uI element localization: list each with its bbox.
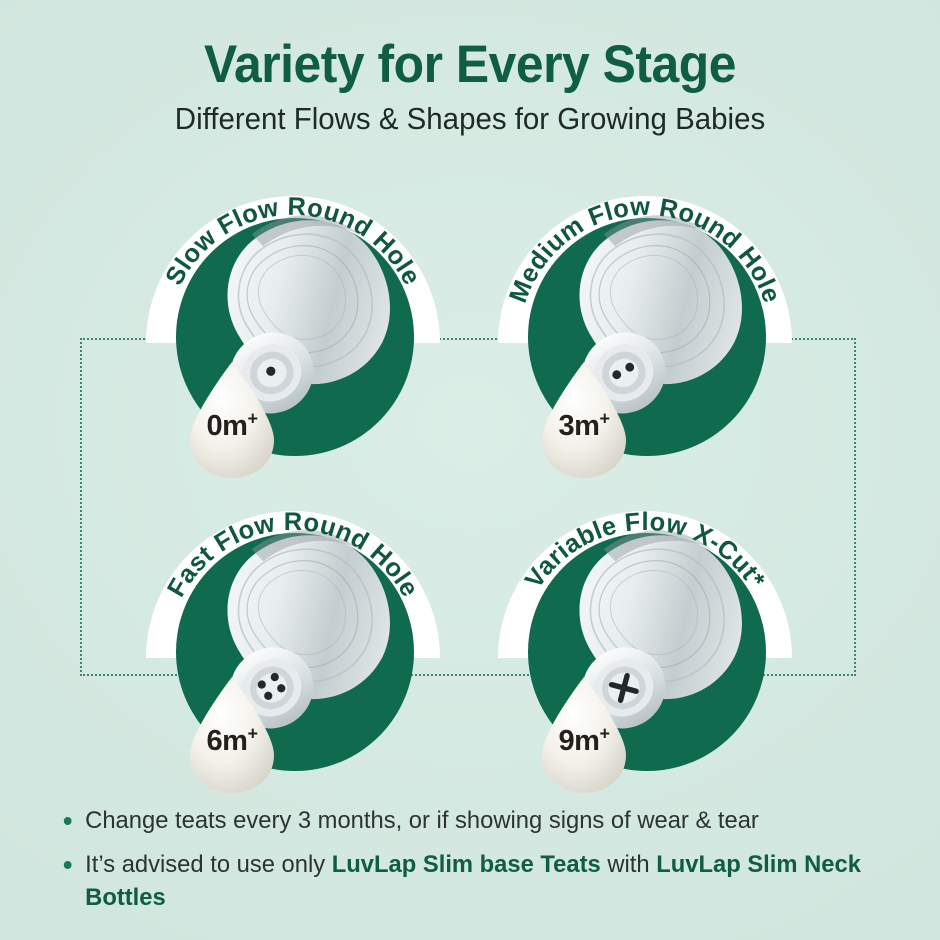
age-droplet-badge: 6m+ xyxy=(180,673,284,797)
header-block: Variety for Every Stage Different Flows … xyxy=(0,36,940,137)
note-item: It’s advised to use only LuvLap Slim bas… xyxy=(58,849,883,914)
teat-card-stage: 3m+ Medium Flow Round Hole xyxy=(470,172,820,482)
teat-card: 6m+ Fast Flow Round Hole xyxy=(118,487,468,797)
page-title: Variety for Every Stage xyxy=(28,36,912,93)
age-droplet-badge: 3m+ xyxy=(532,358,636,482)
teat-card-stage: 6m+ Fast Flow Round Hole xyxy=(118,487,468,797)
brand-text: LuvLap Slim base Teats xyxy=(332,851,601,878)
bullet-dot-icon xyxy=(64,861,72,869)
plain-text: with xyxy=(601,851,656,878)
age-label: 0m+ xyxy=(180,410,284,443)
teat-card: 0m+ Slow Flow Round Hole xyxy=(118,172,468,482)
bullet-dot-icon xyxy=(64,817,72,825)
age-label: 6m+ xyxy=(180,725,284,758)
note-text: Change teats every 3 months, or if showi… xyxy=(85,807,759,834)
age-label: 9m+ xyxy=(532,725,636,758)
page-subtitle: Different Flows & Shapes for Growing Bab… xyxy=(24,101,917,137)
teat-card: 9m+ Variable Flow X-Cut* xyxy=(470,487,820,797)
teat-card-stage: 9m+ Variable Flow X-Cut* xyxy=(470,487,820,797)
teat-card-stage: 0m+ Slow Flow Round Hole xyxy=(118,172,468,482)
teat-card: 3m+ Medium Flow Round Hole xyxy=(470,172,820,482)
infographic-canvas: Variety for Every Stage Different Flows … xyxy=(0,0,940,940)
plain-text: It’s advised to use only xyxy=(85,851,332,878)
note-text: It’s advised to use only LuvLap Slim bas… xyxy=(85,851,861,910)
notes-list: Change teats every 3 months, or if showi… xyxy=(58,805,908,926)
age-droplet-badge: 0m+ xyxy=(180,358,284,482)
plain-text: Change teats every 3 months, or if showi… xyxy=(85,807,759,834)
note-item: Change teats every 3 months, or if showi… xyxy=(58,805,883,837)
age-label: 3m+ xyxy=(532,410,636,443)
teat-card-grid: 0m+ Slow Flow Round Hole xyxy=(0,172,940,792)
age-droplet-badge: 9m+ xyxy=(532,673,636,797)
